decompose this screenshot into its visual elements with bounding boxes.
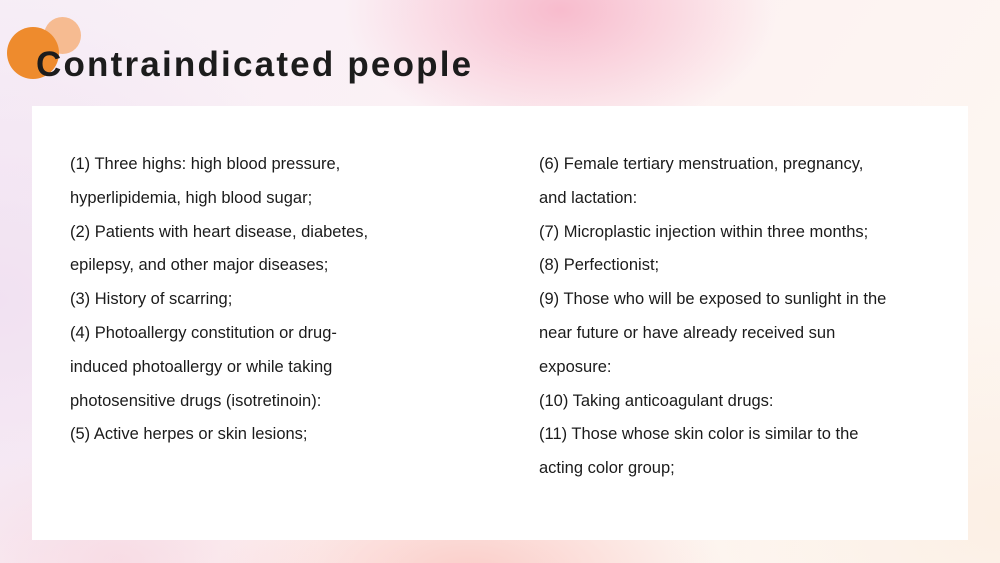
list-item: (4) Photoallergy constitution or drug-	[70, 317, 491, 351]
list-item: (3) History of scarring;	[70, 283, 491, 317]
list-item: (8) Perfectionist;	[539, 249, 954, 283]
list-item: induced photoallergy or while taking	[70, 351, 491, 385]
content-card: (1) Three highs: high blood pressure,hyp…	[32, 106, 968, 540]
contraindication-list-right: (6) Female tertiary menstruation, pregna…	[501, 106, 968, 486]
content-columns: (1) Three highs: high blood pressure,hyp…	[32, 106, 968, 540]
list-item: (7) Microplastic injection within three …	[539, 216, 954, 250]
list-item: (11) Those whose skin color is similar t…	[539, 418, 954, 452]
list-item: hyperlipidemia, high blood sugar;	[70, 182, 491, 216]
list-item: (1) Three highs: high blood pressure,	[70, 148, 491, 182]
list-item: (5) Active herpes or skin lesions;	[70, 418, 491, 452]
list-item: near future or have already received sun	[539, 317, 954, 351]
page-title: Contraindicated people	[36, 47, 473, 82]
list-item: acting color group;	[539, 452, 954, 486]
contraindication-list-left: (1) Three highs: high blood pressure,hyp…	[32, 106, 501, 452]
list-item: photosensitive drugs (isotretinoin):	[70, 385, 491, 419]
list-item: (2) Patients with heart disease, diabete…	[70, 216, 491, 250]
list-item: (10) Taking anticoagulant drugs:	[539, 385, 954, 419]
list-item: exposure:	[539, 351, 954, 385]
list-item: epilepsy, and other major diseases;	[70, 249, 491, 283]
list-item: and lactation:	[539, 182, 954, 216]
slide-canvas: Contraindicated people (1) Three highs: …	[0, 0, 1000, 563]
list-item: (6) Female tertiary menstruation, pregna…	[539, 148, 954, 182]
list-item: (9) Those who will be exposed to sunligh…	[539, 283, 954, 317]
